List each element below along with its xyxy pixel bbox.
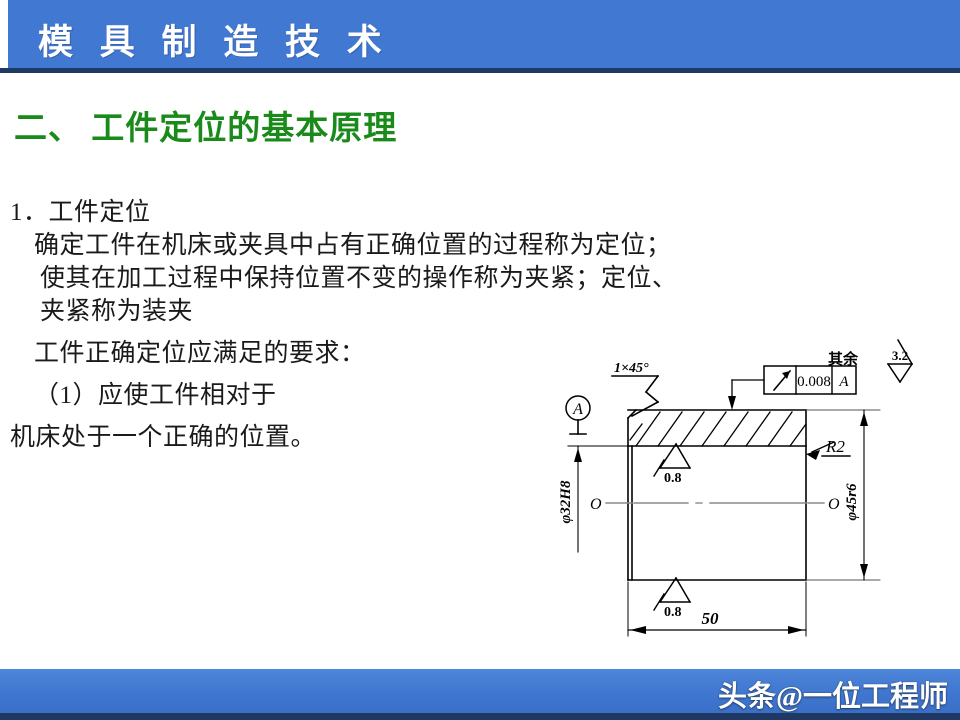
label-length-dimension: 50 [702,609,720,628]
footer-bottom-line [0,713,960,720]
label-tolerance-datum: A [838,374,849,390]
body-text-block: 1．工件定位 确定工件在机床或夹具中占有正确位置的过程称为定位； 使其在加工过程… [10,196,630,454]
body-spacer-1 [10,328,630,337]
header-bar: 模 具 制 造 技 术 [8,0,960,68]
body-spacer-2 [10,370,630,379]
header-underline [0,68,960,73]
footer-bar: 上一页 下一页 [0,669,960,715]
label-axis-right: O [828,496,840,513]
body-line-2: 确定工件在机床或夹具中占有正确位置的过程称为定位； [10,229,630,262]
label-datum-circle: A [572,401,583,418]
label-chamfer: 1×45° [614,361,649,376]
body-spacer-3 [10,412,630,421]
label-left-dimension: φ32H8 [558,480,574,523]
body-line-4: 夹紧称为装夹 [10,295,630,328]
body-line-1: 1．工件定位 [10,196,630,229]
presentation-title: 模 具 制 造 技 术 [38,14,391,65]
slide-root: 模 具 制 造 技 术 二、 工件定位的基本原理 1．工件定位 确定工件在机床或… [0,0,960,720]
label-tolerance-value: 0.008 [797,374,831,390]
label-remainder-value: 3.2 [892,348,908,363]
label-roughness-lower: 0.8 [664,605,682,620]
body-line-3: 使其在加工过程中保持位置不变的操作称为夹紧；定位、 [10,262,630,295]
label-remainder: 其余 [828,350,859,368]
label-axis-left: O [590,496,602,513]
label-right-dimension: φ45r6 [844,483,860,521]
body-line-5: 工件正确定位应满足的要求： [10,337,630,370]
body-line-7: 机床处于一个正确的位置。 [10,421,630,454]
engineering-drawing: 1×45° A φ32H8 φ45r6 50 R2 0.8 0.8 其余 3.2… [550,330,960,650]
label-roughness-upper: 0.8 [664,471,682,486]
body-line-6: （1）应使工件相对于 [10,379,630,412]
label-radius: R2 [825,437,845,456]
section-heading: 二、 工件定位的基本原理 [14,101,397,149]
